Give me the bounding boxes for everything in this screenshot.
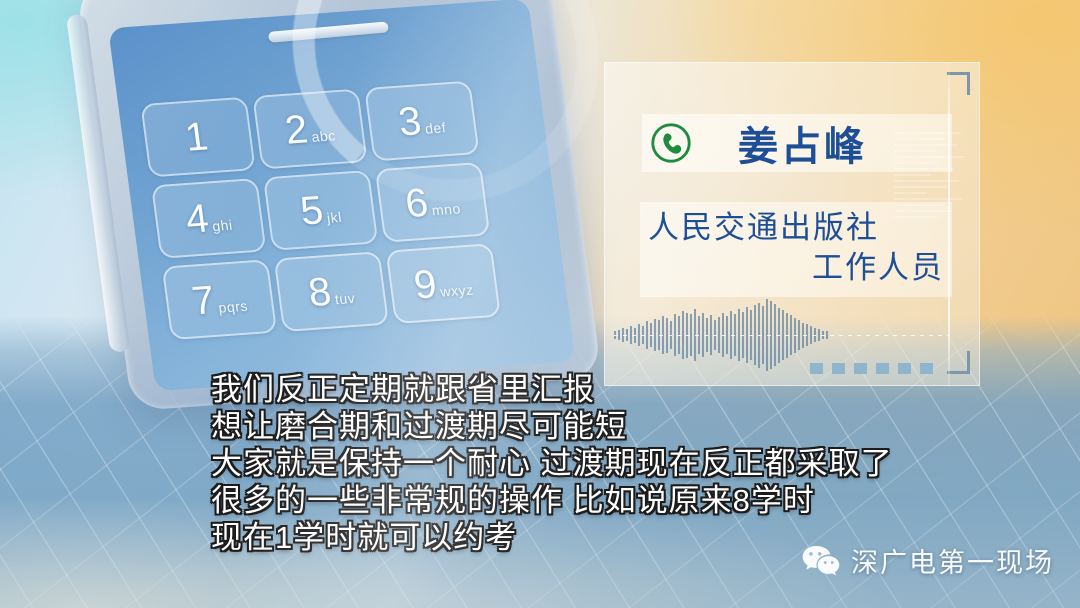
subtitle-line: 大家就是保持一个耐心 过渡期现在反正都采取了 [211,446,1001,483]
key-digit: 8 [306,272,333,313]
phone-handset-circle-icon [648,120,694,166]
keypad-key: 7pqrs [162,259,278,340]
key-digit: 1 [183,117,210,158]
key-letters: pqrs [217,298,248,316]
wechat-icon [801,544,841,578]
key-digit: 5 [298,190,325,231]
caller-org-line-1: 人民交通出版社 [648,208,944,248]
keypad-key: 4ghi [151,178,267,259]
key-letters: mno [431,200,462,218]
channel-watermark: 深广电第一现场 [801,541,1054,580]
keypad-key: 8tuv [274,251,390,332]
caller-organization-block: 人民交通出版社 工作人员 [640,202,952,297]
watermark-text: 深广电第一现场 [851,541,1054,580]
keypad-key: 9wxyz [385,243,501,324]
vertical-divider-line [948,62,950,386]
tv-broadcast-frame: 1 2abc 3def 4ghi 5jkl 6mno 7pqrs 8tuv 9w… [0,0,1080,608]
caller-id-card: 姜占峰 人民交通出版社 工作人员 [604,62,980,386]
corner-bracket-top-right [947,72,970,95]
key-digit: 4 [183,199,210,240]
key-letters: wxyz [439,282,474,300]
subtitle-block: 我们反正定期就跟省里汇报 想让磨合期和过渡期尽可能短 大家就是保持一个耐心 过渡… [211,372,1001,556]
caller-org-line-2: 工作人员 [648,248,944,288]
subtitle-line: 很多的一些非常规的操作 比如说原来8学时 [211,483,1001,520]
subtitle-line: 我们反正定期就跟省里汇报 [211,372,1001,409]
waveform-center-axis [614,335,948,336]
key-letters: tuv [334,290,356,307]
key-letters: ghi [211,217,233,234]
keypad-key: 5jkl [263,170,379,251]
subtitle-line: 想让磨合期和过渡期尽可能短 [211,409,1001,446]
caller-name: 姜占峰 [738,114,867,172]
caller-name-row: 姜占峰 [642,114,952,172]
audio-waveform [614,294,958,376]
key-digit: 7 [190,280,217,321]
phone-device-graphic: 1 2abc 3def 4ghi 5jkl 6mno 7pqrs 8tuv 9w… [76,0,602,411]
key-letters: jkl [326,209,343,226]
key-digit: 2 [283,109,310,150]
key-digit: 9 [412,264,439,305]
keypad-key: 1 [140,97,256,178]
